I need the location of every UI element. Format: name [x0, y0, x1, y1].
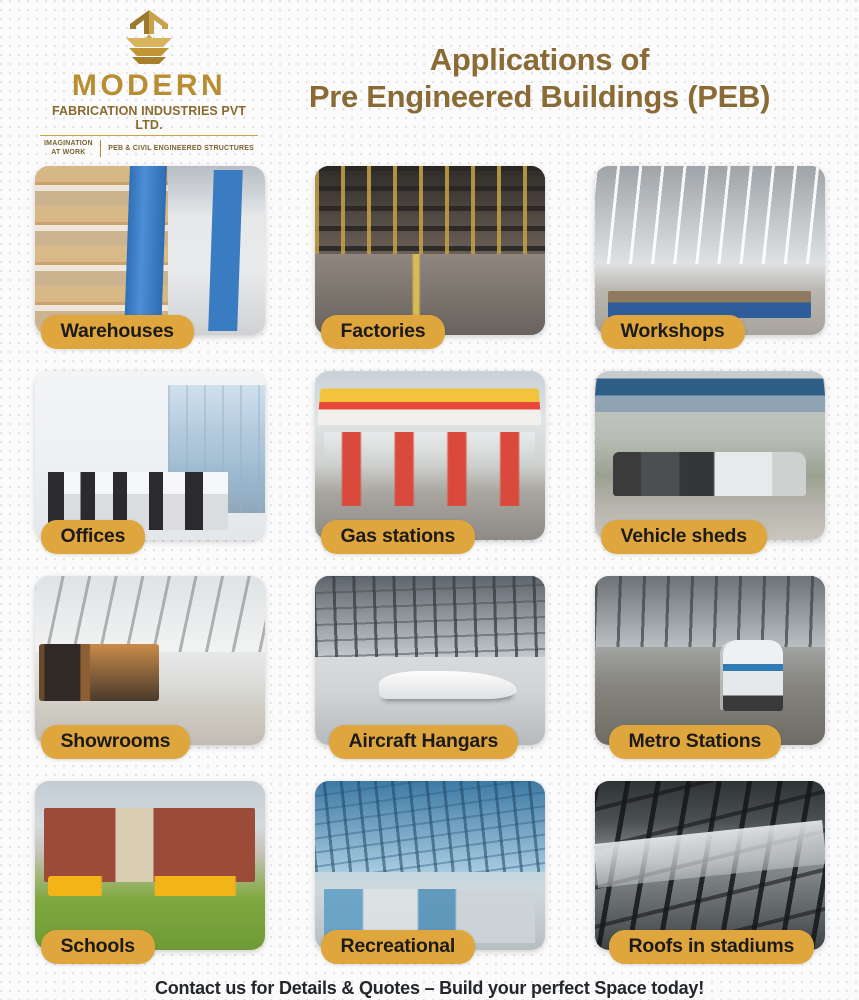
card-label: Metro Stations	[609, 725, 782, 759]
factory-photo	[315, 166, 545, 335]
application-card-warehouses[interactable]: Warehouses	[27, 158, 273, 349]
footer-cta: Contact us for Details & Quotes – Build …	[0, 978, 859, 1000]
card-label: Schools	[41, 930, 155, 964]
card-label: Workshops	[601, 315, 745, 349]
card-label: Roofs in stadiums	[609, 930, 815, 964]
vehicle-shed-photo	[595, 371, 825, 540]
tagline-services: PEB & CIVIL ENGINEERED STRUCTURES	[101, 145, 254, 152]
brand-tagline: IMAGINATION AT WORK PEB & CIVIL ENGINEER…	[40, 140, 258, 158]
workshop-photo	[595, 166, 825, 335]
application-card-roofs-in-stadiums[interactable]: Roofs in stadiums	[587, 773, 833, 964]
application-card-metro-stations[interactable]: Metro Stations	[587, 568, 833, 759]
card-label: Aircraft Hangars	[329, 725, 519, 759]
gas-station-photo	[315, 371, 545, 540]
application-card-offices[interactable]: Offices	[27, 363, 273, 554]
application-card-showrooms[interactable]: Showrooms	[27, 568, 273, 759]
showroom-photo	[35, 576, 265, 745]
page-title: Applications of Pre Engineered Buildings…	[258, 42, 841, 115]
card-label: Gas stations	[321, 520, 476, 554]
office-photo	[35, 371, 265, 540]
tagline-imagination: IMAGINATION	[44, 140, 93, 149]
application-card-recreational[interactable]: Recreational	[307, 773, 553, 964]
tagline-at-work: AT WORK	[44, 149, 93, 158]
title-line-1: Applications of	[258, 42, 821, 79]
application-card-workshops[interactable]: Workshops	[587, 158, 833, 349]
title-line-2: Pre Engineered Buildings (PEB)	[258, 79, 821, 116]
metro-station-photo	[595, 576, 825, 745]
aircraft-hangar-photo	[315, 576, 545, 745]
page-header: MODERN FABRICATION INDUSTRIES PVT LTD. I…	[0, 0, 859, 158]
brand-subtitle: FABRICATION INDUSTRIES PVT LTD.	[40, 104, 258, 136]
card-label: Recreational	[321, 930, 476, 964]
company-logo: MODERN FABRICATION INDUSTRIES PVT LTD. I…	[18, 1, 258, 158]
application-card-factories[interactable]: Factories	[307, 158, 553, 349]
card-label: Vehicle sheds	[601, 520, 767, 554]
building-monogram-icon	[40, 7, 258, 67]
recreational-photo	[315, 781, 545, 950]
warehouse-photo	[35, 166, 265, 335]
application-card-schools[interactable]: Schools	[27, 773, 273, 964]
card-label: Warehouses	[41, 315, 194, 349]
application-card-gas-stations[interactable]: Gas stations	[307, 363, 553, 554]
application-card-aircraft-hangars[interactable]: Aircraft Hangars	[307, 568, 553, 759]
application-card-vehicle-sheds[interactable]: Vehicle sheds	[587, 363, 833, 554]
card-label: Factories	[321, 315, 446, 349]
brand-name: MODERN	[40, 71, 258, 101]
school-photo	[35, 781, 265, 950]
stadium-roof-photo	[595, 781, 825, 950]
card-label: Showrooms	[41, 725, 191, 759]
card-label: Offices	[41, 520, 146, 554]
applications-grid: Warehouses Factories Workshops Offices G…	[0, 158, 859, 964]
